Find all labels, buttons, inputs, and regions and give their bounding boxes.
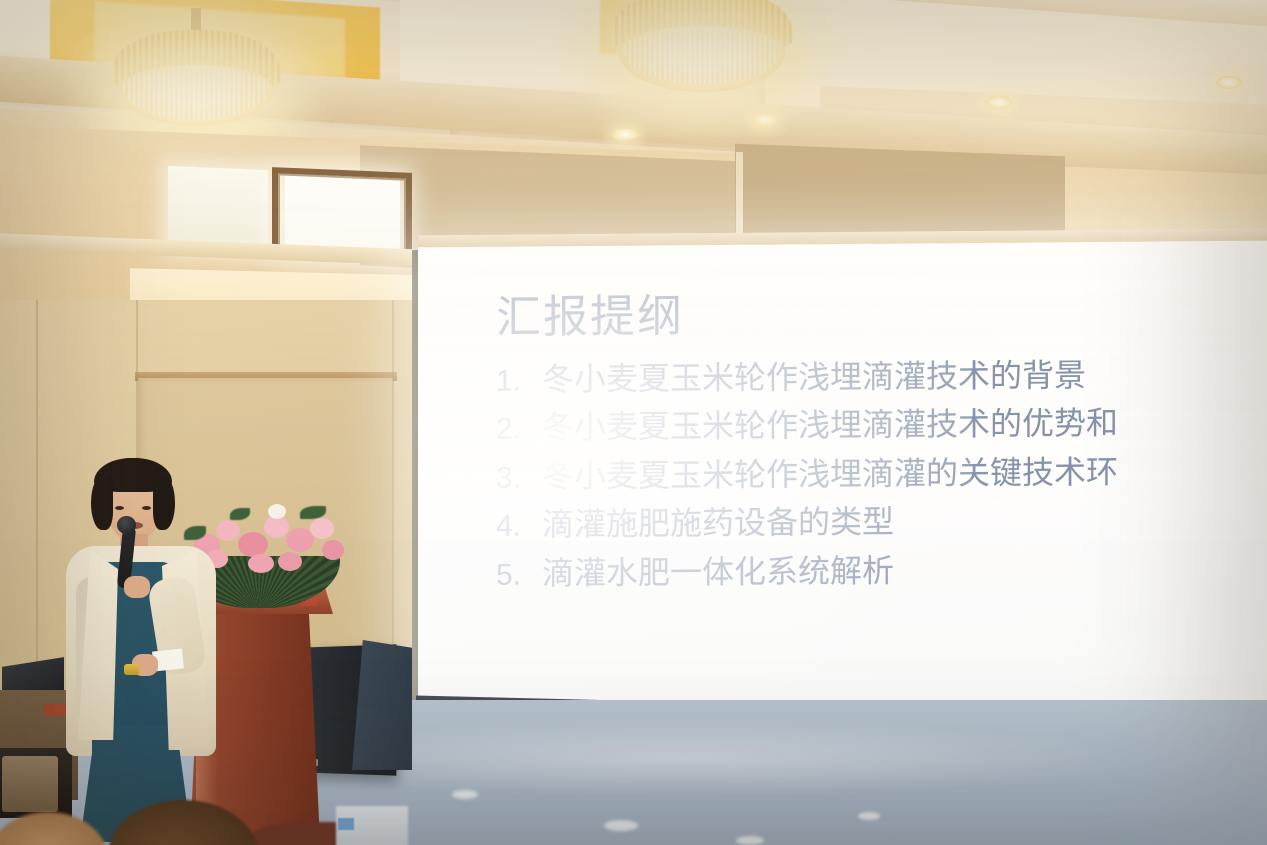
slide-item-number: 4.	[496, 504, 542, 548]
presenter-eye-right	[142, 506, 151, 510]
flower	[278, 552, 302, 571]
wall-seam	[36, 300, 38, 700]
slide-title: 汇报提纲	[496, 287, 1267, 343]
slide-list-item: 5. 滴灌水肥一体化系统解析	[496, 544, 1267, 597]
slide-item-number: 2.	[496, 407, 542, 451]
floor-light-reflection	[736, 836, 764, 845]
projection-screen-assembly: 汇报提纲 1. 冬小麦夏玉米轮作浅埋滴灌技术的背景 2. 冬小麦夏玉米轮作浅埋滴…	[418, 244, 1267, 714]
flower	[248, 554, 274, 573]
foreground-badge	[338, 818, 354, 830]
flower	[310, 518, 334, 539]
chandelier-drum-shade	[619, 26, 785, 92]
slide-list-item: 4. 滴灌施肥施药设备的类型	[496, 496, 1267, 549]
slide-item-text: 冬小麦夏玉米轮作浅埋滴灌技术的背景	[542, 352, 1086, 403]
presenter-hair-left	[91, 476, 113, 530]
flower-leaf	[230, 508, 250, 520]
flower	[264, 516, 289, 538]
slide-list-item: 1. 冬小麦夏玉米轮作浅埋滴灌技术的背景	[496, 350, 1267, 403]
slide-item-number: 3.	[496, 456, 542, 500]
floor-light-reflection	[858, 812, 880, 820]
flower	[322, 540, 344, 560]
slide-list-item: 3. 冬小麦夏玉米轮作浅埋滴灌的关键技术环	[496, 447, 1267, 500]
conference-photo: 汇报提纲 1. 冬小麦夏玉米轮作浅埋滴灌技术的背景 2. 冬小麦夏玉米轮作浅埋滴…	[0, 0, 1267, 845]
presenter-hair-right	[153, 476, 175, 530]
recessed-downlight-icon	[986, 96, 1012, 109]
floor-sheen	[380, 718, 1140, 798]
presenter-wristwatch	[124, 664, 139, 675]
slide-item-number: 1.	[496, 359, 542, 403]
window-pane-left	[168, 166, 268, 252]
slide-item-text: 滴灌施肥施药设备的类型	[542, 499, 894, 548]
recessed-downlight-icon	[1216, 76, 1242, 89]
wall-seam	[392, 300, 394, 700]
slide-content: 汇报提纲 1. 冬小麦夏玉米轮作浅埋滴灌技术的背景 2. 冬小麦夏玉米轮作浅埋滴…	[418, 241, 1267, 714]
floor-light-reflection	[604, 820, 638, 831]
slide-item-text: 冬小麦夏玉米轮作浅埋滴灌的关键技术环	[542, 448, 1118, 499]
floor-light-reflection	[452, 790, 478, 799]
slide-item-text: 冬小麦夏玉米轮作浅埋滴灌技术的优势和	[542, 400, 1118, 451]
slide-item-number: 5.	[496, 553, 542, 597]
projection-screen: 汇报提纲 1. 冬小麦夏玉米轮作浅埋滴灌技术的背景 2. 冬小麦夏玉米轮作浅埋滴…	[418, 241, 1267, 714]
recessed-downlight-icon	[752, 113, 778, 126]
slide-list-item: 2. 冬小麦夏玉米轮作浅埋滴灌技术的优势和	[496, 399, 1267, 452]
recessed-downlight-icon	[612, 128, 638, 141]
chandelier-drum-shade	[119, 65, 274, 126]
flower-white	[268, 504, 286, 519]
microphone-icon	[117, 516, 136, 534]
chandelier-right	[612, 0, 792, 92]
presenter-hand-upper	[124, 576, 150, 598]
equipment-case	[2, 756, 58, 812]
slide-outline-list: 1. 冬小麦夏玉米轮作浅埋滴灌技术的背景 2. 冬小麦夏玉米轮作浅埋滴灌技术的优…	[496, 350, 1267, 597]
presenter-eye-left	[115, 506, 124, 510]
chandelier-left	[112, 8, 280, 126]
slide-item-text: 滴灌水肥一体化系统解析	[542, 547, 894, 596]
presenter	[58, 458, 223, 845]
